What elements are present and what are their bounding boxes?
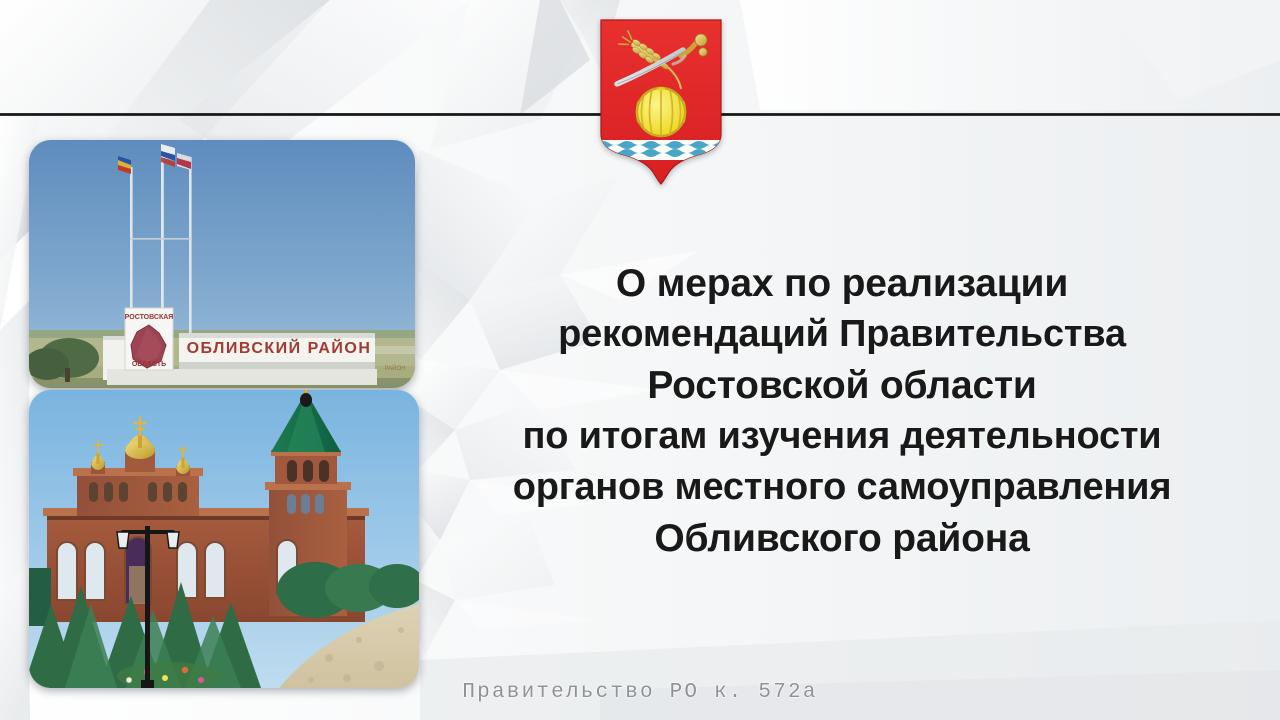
district-sign-text: ОБЛИВСКИЙ РАЙОН xyxy=(187,338,372,357)
slide-title: О мерах по реализации рекомендаций Прави… xyxy=(424,258,1260,564)
title-line-5: органов местного самоуправления xyxy=(424,462,1260,513)
broadcast-caption: Правительство РО к. 572а xyxy=(0,681,1280,704)
title-line-2: рекомендаций Правительства xyxy=(424,309,1260,360)
plaque-top-label: РОСТОВСКАЯ xyxy=(125,314,174,321)
district-entrance-sign-photo: РОСТОВСКАЯ ОБЛАСТЬ ОБЛИВСКИЙ РАЙОН РАЙОН xyxy=(29,140,415,388)
title-line-1: О мерах по реализации xyxy=(424,258,1260,309)
coat-of-arms-oblivsky-district xyxy=(597,16,725,186)
title-line-3: Ростовской области xyxy=(424,360,1260,411)
title-line-6: Обливского района xyxy=(424,513,1260,564)
svg-text:РАЙОН: РАЙОН xyxy=(385,364,406,372)
orthodox-church-photo xyxy=(29,390,419,688)
plaque-bottom-label: ОБЛАСТЬ xyxy=(132,361,166,368)
presentation-slide: РОСТОВСКАЯ ОБЛАСТЬ ОБЛИВСКИЙ РАЙОН РАЙОН xyxy=(0,0,1280,720)
title-line-4: по итогам изучения деятельности xyxy=(424,411,1260,462)
